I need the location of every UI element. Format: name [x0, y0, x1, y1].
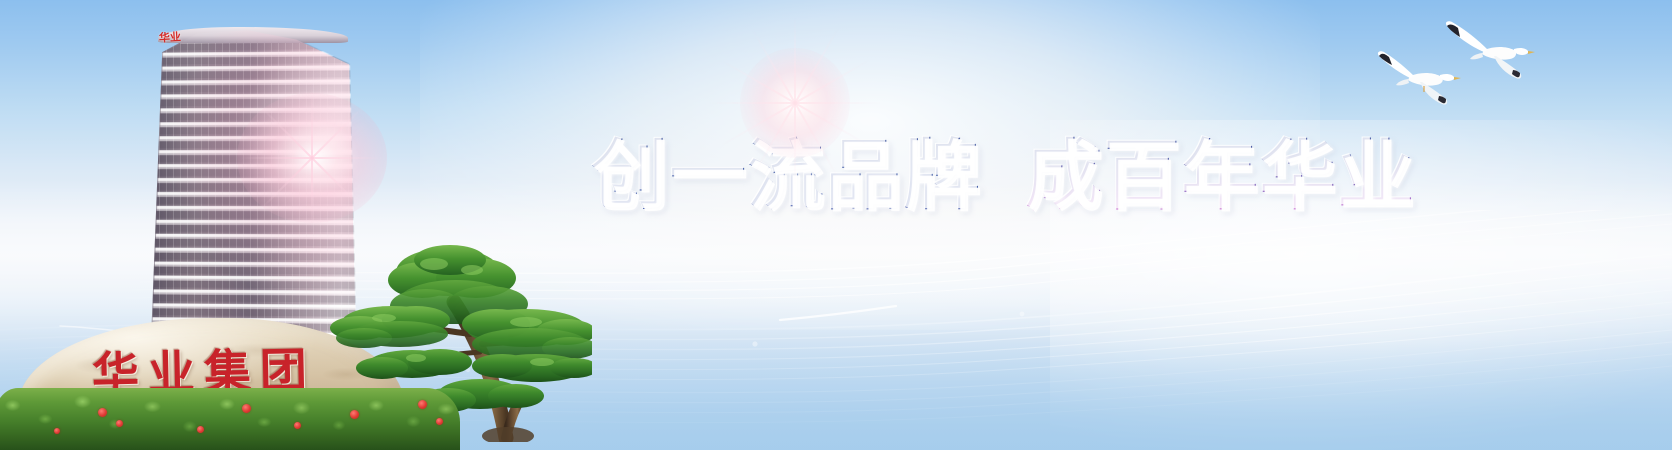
flower-icon: [418, 400, 427, 409]
office-tower-graphic: 华业: [138, 24, 358, 336]
flower-icon: [242, 404, 251, 413]
seagull-icon: [1378, 51, 1461, 104]
sun-flare-ray: [795, 59, 870, 104]
page-title: 创一流品牌成百年华业: [592, 133, 1352, 219]
seagull-icon: [1446, 21, 1535, 78]
seagull-group: [1370, 6, 1550, 116]
headline-segment-left: 创一流品牌: [592, 133, 982, 219]
sun-flare-ray: [795, 102, 881, 104]
flower-icon: [54, 428, 60, 434]
flower-icon: [98, 408, 107, 417]
flower-icon: [350, 410, 359, 419]
headline-segment-right: 成百年华业: [1026, 133, 1416, 219]
sun-flare-ray: [720, 59, 795, 104]
flower-icon: [197, 426, 204, 433]
flower-icon: [294, 422, 301, 429]
tower-sun-wash: [138, 24, 358, 336]
sun-flare-ray: [751, 28, 796, 103]
hero-banner: 华业 华业集团: [0, 0, 1672, 450]
sun-flare-ray: [709, 102, 795, 104]
sun-flare-ray: [794, 28, 839, 103]
sun-flare-ray: [794, 17, 796, 103]
flower-icon: [436, 418, 443, 425]
tower-roof-sign: 华业: [146, 30, 195, 46]
hedge-leaf-texture: [0, 388, 460, 450]
flower-icon: [116, 420, 123, 427]
hedge-graphic: [0, 388, 460, 450]
